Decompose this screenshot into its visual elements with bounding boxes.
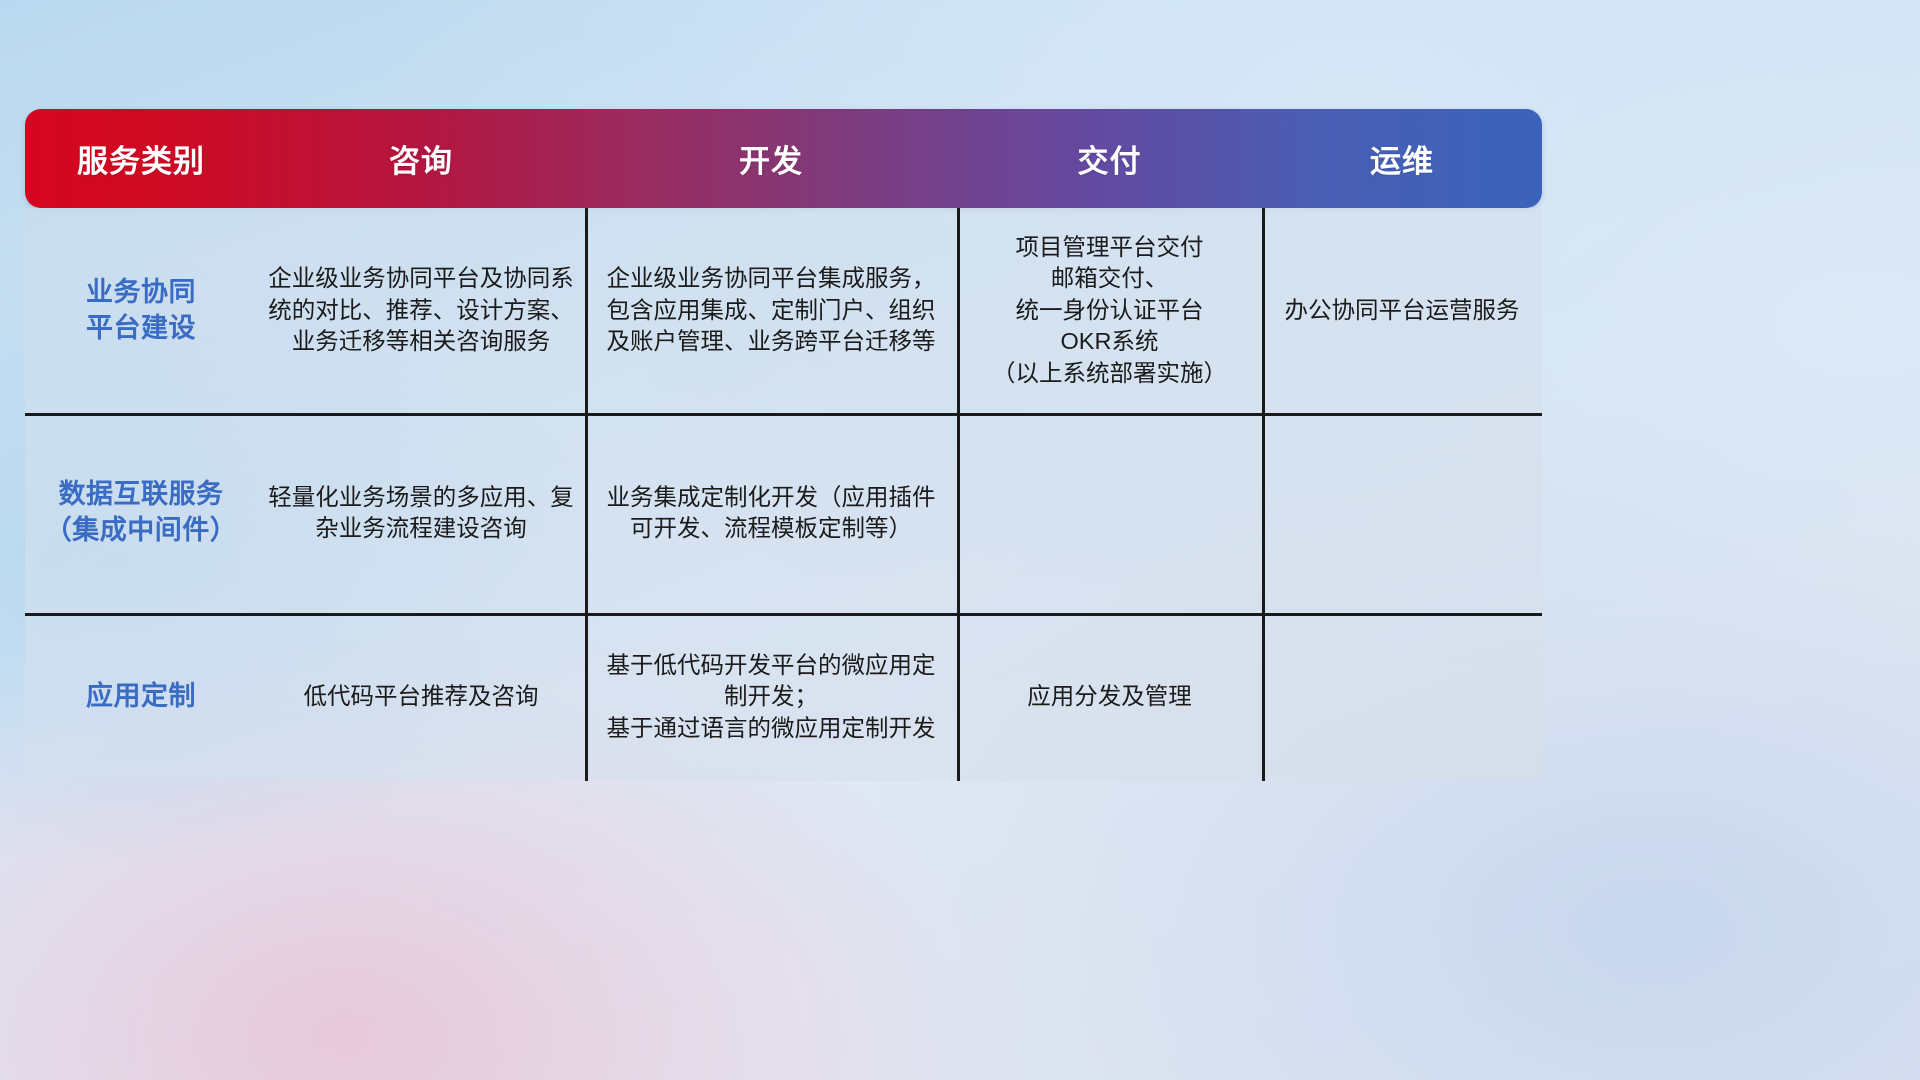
row-divider-2	[25, 613, 1542, 616]
cell-category-2: 数据互联服务 （集成中间件）	[25, 413, 257, 613]
cell-category-1: 业务协同 平台建设	[25, 208, 257, 413]
column-header-development: 开发	[585, 136, 957, 181]
table-row: 业务协同 平台建设 企业级业务协同平台及协同系 统的对比、推荐、设计方案、 业务…	[25, 208, 1542, 413]
table-row: 数据互联服务 （集成中间件） 轻量化业务场景的多应用、复 杂业务流程建设咨询 业…	[25, 413, 1542, 613]
column-divider-2	[957, 208, 960, 781]
cell-delivery-2	[957, 413, 1262, 613]
column-header-operations: 运维	[1262, 136, 1542, 181]
row-divider-1	[25, 413, 1542, 416]
service-category-table: 服务类别 咨询 开发 交付 运维 业务协同 平台建设 企业级业务协同平台及协同系…	[25, 109, 1542, 781]
cell-operations-1: 办公协同平台运营服务	[1262, 208, 1542, 413]
column-divider-3	[1262, 208, 1265, 781]
column-header-consulting: 咨询	[257, 136, 585, 181]
table-header-row: 服务类别 咨询 开发 交付 运维	[25, 109, 1542, 208]
cell-development-1: 企业级业务协同平台集成服务， 包含应用集成、定制门户、组织 及账户管理、业务跨平…	[585, 208, 957, 413]
column-divider-1	[585, 208, 588, 781]
cell-operations-3	[1262, 613, 1542, 781]
cell-development-2: 业务集成定制化开发（应用插件 可开发、流程模板定制等）	[585, 413, 957, 613]
table-row: 应用定制 低代码平台推荐及咨询 基于低代码开发平台的微应用定 制开发； 基于通过…	[25, 613, 1542, 781]
column-header-delivery: 交付	[957, 136, 1262, 181]
cell-consulting-2: 轻量化业务场景的多应用、复 杂业务流程建设咨询	[257, 413, 585, 613]
table-body: 业务协同 平台建设 企业级业务协同平台及协同系 统的对比、推荐、设计方案、 业务…	[25, 208, 1542, 781]
column-header-category: 服务类别	[25, 136, 257, 181]
cell-operations-2	[1262, 413, 1542, 613]
cell-consulting-1: 企业级业务协同平台及协同系 统的对比、推荐、设计方案、 业务迁移等相关咨询服务	[257, 208, 585, 413]
cell-category-3: 应用定制	[25, 613, 257, 781]
cell-development-3: 基于低代码开发平台的微应用定 制开发； 基于通过语言的微应用定制开发	[585, 613, 957, 781]
cell-delivery-3: 应用分发及管理	[957, 613, 1262, 781]
cell-consulting-3: 低代码平台推荐及咨询	[257, 613, 585, 781]
cell-delivery-1: 项目管理平台交付 邮箱交付、 统一身份认证平台 OKR系统 （以上系统部署实施）	[957, 208, 1262, 413]
